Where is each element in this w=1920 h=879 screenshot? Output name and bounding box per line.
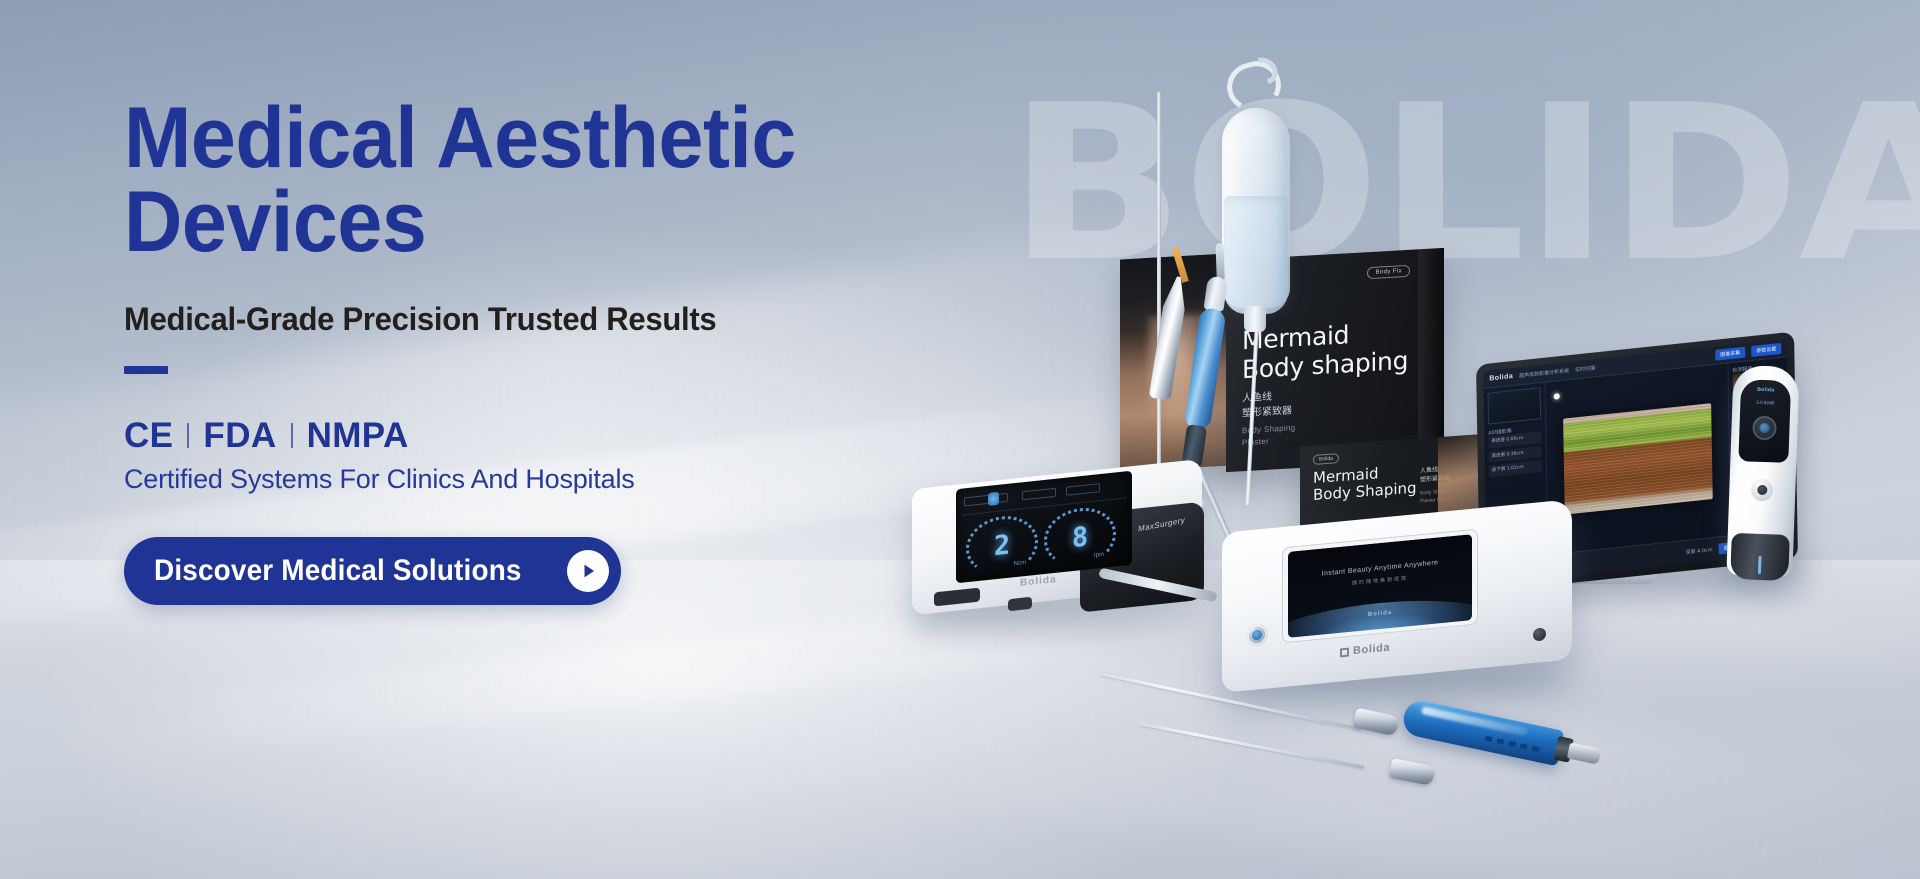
- certification-separator: [187, 423, 189, 448]
- gauge-right-unit: rpm: [1094, 552, 1104, 559]
- maxsurgery-console: 2 Ncm 8 rpm MaxSurgery Bolida: [912, 464, 1202, 614]
- iv-stand-pole: [1157, 92, 1161, 512]
- certification-ce: CE: [124, 416, 173, 456]
- handpiece-vents: [1485, 736, 1541, 753]
- mermaid-box-title: Mermaid Body shaping: [1242, 318, 1408, 384]
- page-title: Medical Aesthetic Devices: [124, 96, 838, 265]
- topbar-indicator-icon: [988, 492, 999, 506]
- gauge-right: 8 rpm: [1044, 504, 1116, 570]
- cannula-chrome-tip: [1352, 708, 1399, 737]
- discover-medical-solutions-button[interactable]: Discover Medical Solutions: [124, 537, 621, 605]
- blue-cannula-handpiece: [1400, 698, 1601, 774]
- monitor-capture-button[interactable]: 图像采集: [1715, 347, 1745, 361]
- cannula-chrome-tip: [1388, 758, 1435, 786]
- cannula-needle: [1140, 722, 1364, 768]
- handpiece-tail-connector: [1567, 743, 1602, 765]
- probe-navigation-pad[interactable]: [1752, 416, 1777, 441]
- iv-bag-neck: [1244, 306, 1266, 332]
- topbar-segment: [964, 493, 1008, 507]
- gauge-left-unit: Ncm: [1014, 560, 1026, 567]
- topbar-segment: [1022, 488, 1056, 501]
- monitor-scan-area: [1547, 366, 1728, 552]
- bolida-logo-mark-icon: [1340, 647, 1349, 657]
- mermaid-small-title: Mermaid Body Shaping: [1313, 463, 1417, 505]
- console-display: 2 Ncm 8 rpm: [956, 471, 1132, 583]
- handpiece-main-body: [1400, 698, 1564, 766]
- handpiece-tip: [1216, 243, 1225, 281]
- gauge-left: 2 Ncm: [966, 513, 1038, 579]
- monitor-header-mode: 实时扫描: [1575, 364, 1595, 373]
- certification-list: CE FDA NMPA: [124, 416, 884, 456]
- hero-copy: Medical Aesthetic Devices Medical-Grade …: [124, 96, 884, 605]
- handheld-ultrasound-probe: Bolida 5.0 62dB: [1726, 365, 1799, 577]
- cta-label: Discover Medical Solutions: [154, 554, 522, 588]
- probe-status: 5.0 62dB: [1740, 399, 1790, 406]
- handpiece-collar: [1203, 276, 1228, 312]
- scan-thumbnail[interactable]: [1488, 387, 1542, 425]
- box-pill-right: Body Fix: [1367, 265, 1410, 279]
- probe-power-button[interactable]: [1750, 478, 1775, 503]
- monitor-brand: Bolida: [1489, 373, 1513, 382]
- probe-body: Bolida 5.0 62dB: [1726, 365, 1799, 577]
- hero-banner: BOLIDA Medical Aesthetic Devices Medical…: [0, 0, 1920, 879]
- certification-separator: [291, 423, 293, 448]
- certification-nmpa: NMPA: [307, 416, 409, 456]
- certification-fda: FDA: [203, 416, 276, 456]
- measurement-row: 皮下层 1.02cm: [1489, 460, 1542, 477]
- box-side-face: [1418, 248, 1444, 461]
- skin-layer-scan-image: [1563, 403, 1713, 514]
- box-pill: Bolida: [1313, 453, 1339, 465]
- accent-divider: [124, 366, 168, 374]
- certification-subtitle: Certified Systems For Clinics And Hospit…: [124, 464, 884, 495]
- console-b-display: Instant Beauty Anytime Anywhere 随时随地美丽绽放…: [1288, 534, 1472, 638]
- probe-display: Bolida 5.0 62dB: [1738, 379, 1791, 463]
- play-arrow-icon: [567, 550, 609, 592]
- iv-bag-fluid: [1224, 196, 1288, 314]
- topbar-segment: [1066, 483, 1100, 496]
- monitor-header-title: 超声皮肤影像分析系统: [1519, 367, 1569, 379]
- handpiece-highlight: [1421, 706, 1528, 736]
- probe-brand: Bolida: [1741, 386, 1791, 394]
- probe-transducer-head: [1730, 533, 1790, 581]
- depth-label: 深度 4.0cm: [1685, 546, 1712, 556]
- hero-subheadline: Medical-Grade Precision Trusted Results: [124, 301, 861, 338]
- beauty-console: Instant Beauty Anytime Anywhere 随时随地美丽绽放…: [1222, 516, 1572, 696]
- console-foot: [1008, 597, 1032, 612]
- monitor-settings-button[interactable]: 参数设置: [1751, 343, 1781, 357]
